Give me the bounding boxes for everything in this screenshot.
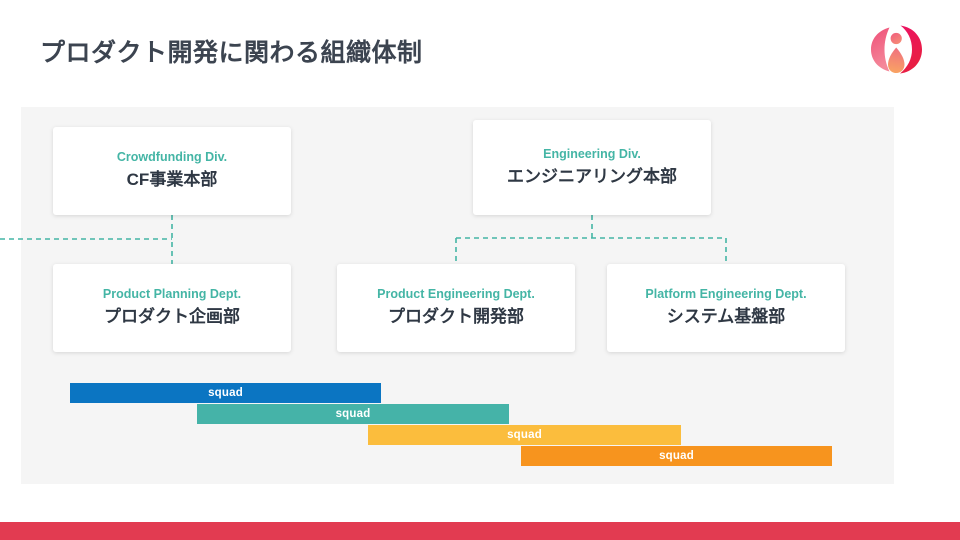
org-box-en-label: Platform Engineering Dept.	[645, 287, 806, 302]
org-box-product-engineering-dept[interactable]: Product Engineering Dept. プロダクト開発部	[337, 264, 575, 352]
org-box-en-label: Product Planning Dept.	[103, 287, 241, 302]
page-title: プロダクト開発に関わる組織体制	[40, 33, 423, 69]
org-box-ja-label: プロダクト企画部	[104, 306, 240, 328]
squad-bar-label: squad	[208, 387, 243, 399]
org-box-platform-engineering-dept[interactable]: Platform Engineering Dept. システム基盤部	[607, 264, 845, 352]
squad-bar[interactable]: squad	[70, 383, 381, 403]
squad-bar[interactable]: squad	[368, 425, 681, 445]
org-box-ja-label: システム基盤部	[667, 306, 786, 328]
org-box-ja-label: プロダクト開発部	[388, 306, 524, 328]
brand-logo	[864, 17, 928, 81]
org-box-en-label: Crowdfunding Div.	[117, 150, 227, 165]
org-box-product-planning-dept[interactable]: Product Planning Dept. プロダクト企画部	[53, 264, 291, 352]
org-box-engineering-div[interactable]: Engineering Div. エンジニアリング本部	[473, 120, 711, 215]
org-box-crowdfunding-div[interactable]: Crowdfunding Div. CF事業本部	[53, 127, 291, 215]
squad-bar-label: squad	[507, 429, 542, 441]
footer-band	[0, 522, 960, 540]
org-box-en-label: Engineering Div.	[543, 147, 641, 162]
squad-bar[interactable]: squad	[521, 446, 832, 466]
squad-bar[interactable]: squad	[197, 404, 509, 424]
org-box-en-label: Product Engineering Dept.	[377, 287, 535, 302]
squad-bar-label: squad	[659, 450, 694, 462]
org-box-ja-label: CF事業本部	[127, 169, 218, 191]
readyfor-logo-icon	[864, 17, 928, 81]
org-box-ja-label: エンジニアリング本部	[507, 166, 677, 188]
squad-bar-label: squad	[336, 408, 371, 420]
